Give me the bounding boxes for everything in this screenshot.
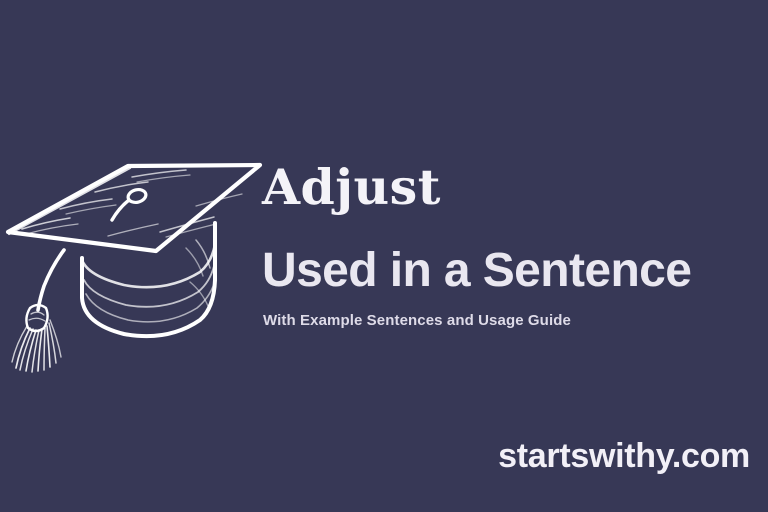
banner-text-block: Adjust Used in a Sentence With Example S…: [262, 163, 762, 212]
site-brand: startswithy.com: [498, 437, 750, 476]
headline: Used in a Sentence: [262, 247, 691, 295]
graduation-cap-icon: [0, 148, 268, 373]
tagline: With Example Sentences and Usage Guide: [263, 313, 571, 328]
word-banner: Adjust Used in a Sentence With Example S…: [0, 0, 768, 512]
word-title: Adjust: [262, 163, 762, 212]
